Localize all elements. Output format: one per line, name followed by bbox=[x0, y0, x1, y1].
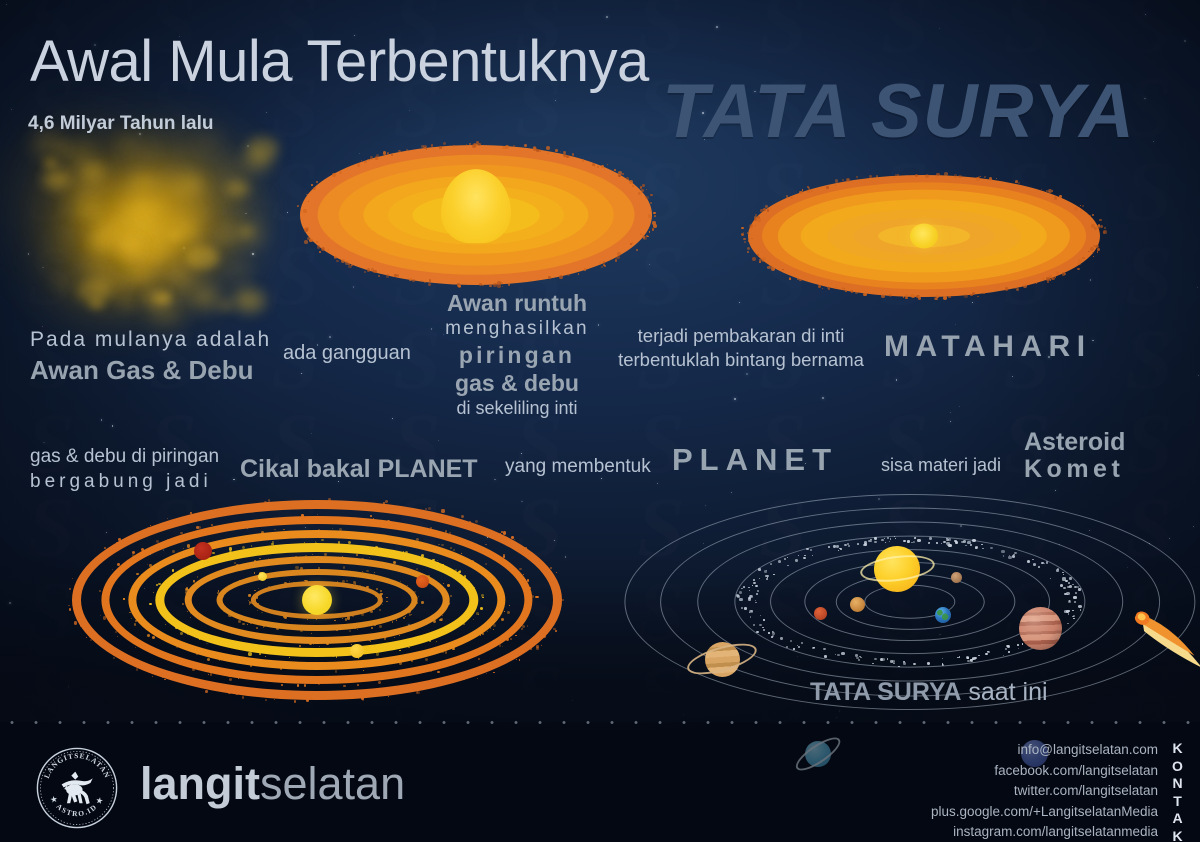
svg-text:★ ASTRO.ID ★: ★ ASTRO.ID ★ bbox=[48, 793, 106, 818]
caption-ignition-line1: terjadi pembakaran di inti bbox=[610, 324, 872, 348]
contact-twitter[interactable]: twitter.com/langitselatan bbox=[931, 781, 1158, 802]
page-title: Awal Mula Terbentuknya bbox=[30, 28, 649, 95]
caption-accretion: gas & debu di piringan bergabung jadi bbox=[30, 446, 219, 493]
brand-wordmark-light: selatan bbox=[260, 758, 405, 809]
label-komet: Komet bbox=[1024, 455, 1125, 484]
caption-ignition: terjadi pembakaran di inti terbentuklah … bbox=[610, 324, 872, 373]
infographic-canvas: SSSSSSSSSSSSSSSSSSSSSSSSSSSSSSSSSSSSSSSS… bbox=[0, 0, 1200, 842]
sun-disk-illustration bbox=[748, 175, 1100, 297]
nebula-gas-cloud-illustration bbox=[22, 122, 274, 327]
contact-email[interactable]: info@langitselatan.com bbox=[931, 740, 1158, 761]
caption-gas-cloud-line1: Pada mulanya adalah bbox=[30, 328, 271, 352]
label-cikal-bakal-planet: Cikal bakal PLANET bbox=[240, 455, 478, 484]
caption-collapse-line4: gas & debu bbox=[428, 370, 606, 397]
label-asteroid-komet: Asteroid Komet bbox=[1024, 428, 1125, 484]
caption-forms: yang membentuk bbox=[505, 456, 651, 478]
label-solar-system-today: TATA SURYA saat ini bbox=[810, 678, 1048, 707]
caption-ignition-line2: terbentuklah bintang bernama bbox=[610, 348, 872, 372]
caption-accretion-line1: gas & debu di piringan bbox=[30, 446, 219, 468]
caption-collapse-line5: di sekeliling inti bbox=[428, 398, 606, 419]
brand-wordmark: langitselatan bbox=[140, 758, 405, 810]
contact-instagram[interactable]: instagram.com/langitselatanmedia bbox=[931, 822, 1158, 842]
collapsing-disk-illustration bbox=[300, 145, 652, 285]
label-matahari: MATAHARI bbox=[884, 330, 1092, 364]
footer-divider bbox=[0, 721, 1200, 724]
caption-collapse-line3: piringan bbox=[428, 342, 606, 369]
caption-leftover-material: sisa materi jadi bbox=[881, 455, 1001, 476]
caption-disturbance: ada gangguan bbox=[283, 342, 411, 365]
caption-collapse-line1: Awan runtuh bbox=[428, 290, 606, 317]
hero-heading-tata-surya: TATA SURYA bbox=[662, 68, 1135, 155]
caption-collapse: Awan runtuh menghasilkan piringan gas & … bbox=[428, 290, 606, 419]
caption-collapse-line2: menghasilkan bbox=[428, 318, 606, 340]
contact-googleplus[interactable]: plus.google.com/+LangitselatanMedia bbox=[931, 802, 1158, 823]
page-subtitle: 4,6 Milyar Tahun lalu bbox=[28, 113, 213, 135]
caption-accretion-line2: bergabung jadi bbox=[30, 471, 219, 493]
label-solar-system-today-light: saat ini bbox=[961, 678, 1047, 706]
brand-wordmark-bold: langit bbox=[140, 758, 260, 809]
label-planet: PLANET bbox=[672, 442, 838, 478]
kontak-vertical-label: KONTAK bbox=[1168, 740, 1188, 842]
contact-facebook[interactable]: facebook.com/langitselatan bbox=[931, 761, 1158, 782]
label-asteroid: Asteroid bbox=[1024, 428, 1125, 457]
caption-gas-cloud: Pada mulanya adalah Awan Gas & Debu bbox=[30, 328, 271, 386]
contact-list: info@langitselatan.com facebook.com/lang… bbox=[931, 740, 1158, 842]
caption-gas-cloud-line2: Awan Gas & Debu bbox=[30, 355, 271, 386]
label-solar-system-today-bold: TATA SURYA bbox=[810, 678, 961, 706]
langitselatan-seal-logo: LANGITSELATAN ★ ASTRO.ID ★ bbox=[33, 744, 121, 832]
protoplanetary-system-illustration bbox=[72, 500, 562, 700]
